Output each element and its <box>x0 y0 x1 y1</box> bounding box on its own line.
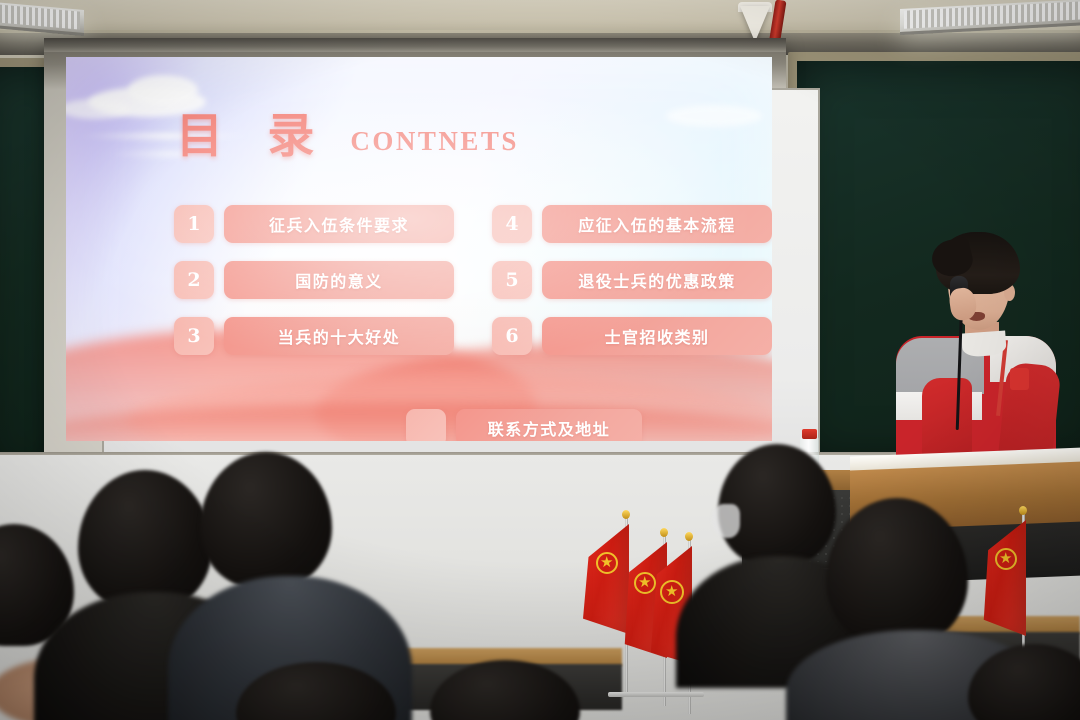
slide-contents-list: 1 征兵入伍条件要求 4 应征入伍的基本流程 2 国防的意义 5 退役士兵的优惠… <box>174 205 772 355</box>
face-mask-icon <box>712 504 740 538</box>
presentation-slide: 目 录 CONTNETS 1 征兵入伍条件要求 4 应征入伍的基本流程 2 国防… <box>66 57 772 441</box>
item-label: 当兵的十大好处 <box>224 317 454 355</box>
cone-speaker-icon <box>740 6 770 42</box>
cloud-icon <box>128 75 198 105</box>
youth-league-emblem-icon: ★ <box>660 580 684 604</box>
jacket-logo <box>1010 368 1029 390</box>
item-number: 3 <box>174 317 214 355</box>
flag-base <box>608 692 704 697</box>
slide-title: 目 录 CONTNETS <box>176 113 519 160</box>
item-label: 士官招收类别 <box>542 317 772 355</box>
cloud-icon <box>66 99 130 119</box>
bottle-cap-icon <box>802 429 817 439</box>
item-label: 退役士兵的优惠政策 <box>542 261 772 299</box>
list-item: 6 士官招收类别 <box>492 317 772 355</box>
list-item: 4 应征入伍的基本流程 <box>492 205 772 243</box>
list-item: 1 征兵入伍条件要求 <box>174 205 454 243</box>
list-item: 5 退役士兵的优惠政策 <box>492 261 772 299</box>
flag-finial-icon <box>660 528 668 537</box>
item-number: 2 <box>174 261 214 299</box>
slide-title-cn: 目 录 <box>176 113 328 160</box>
youth-league-emblem-icon: ★ <box>596 552 618 574</box>
item-number: 6 <box>492 317 532 355</box>
classroom-scene: 目 录 CONTNETS 1 征兵入伍条件要求 4 应征入伍的基本流程 2 国防… <box>0 0 1080 720</box>
flag-finial-icon <box>622 510 630 519</box>
cloud-icon <box>666 105 762 127</box>
youth-league-emblem-icon: ★ <box>634 572 656 594</box>
youth-league-emblem-icon: ★ <box>995 548 1017 570</box>
item-label: 征兵入伍条件要求 <box>224 205 454 243</box>
slide-title-en: CONTNETS <box>350 128 519 160</box>
item-number: 4 <box>492 205 532 243</box>
list-item: 2 国防的意义 <box>174 261 454 299</box>
list-item-contact: 联系方式及地址 <box>406 409 642 441</box>
item-label: 应征入伍的基本流程 <box>542 205 772 243</box>
item-number: 1 <box>174 205 214 243</box>
list-item: 3 当兵的十大好处 <box>174 317 454 355</box>
flag-finial-icon <box>1019 506 1027 515</box>
item-number <box>406 409 446 441</box>
item-label: 联系方式及地址 <box>456 409 642 441</box>
presenter <box>862 232 1062 482</box>
flag-finial-icon <box>685 532 693 541</box>
item-number: 5 <box>492 261 532 299</box>
item-label: 国防的意义 <box>224 261 454 299</box>
